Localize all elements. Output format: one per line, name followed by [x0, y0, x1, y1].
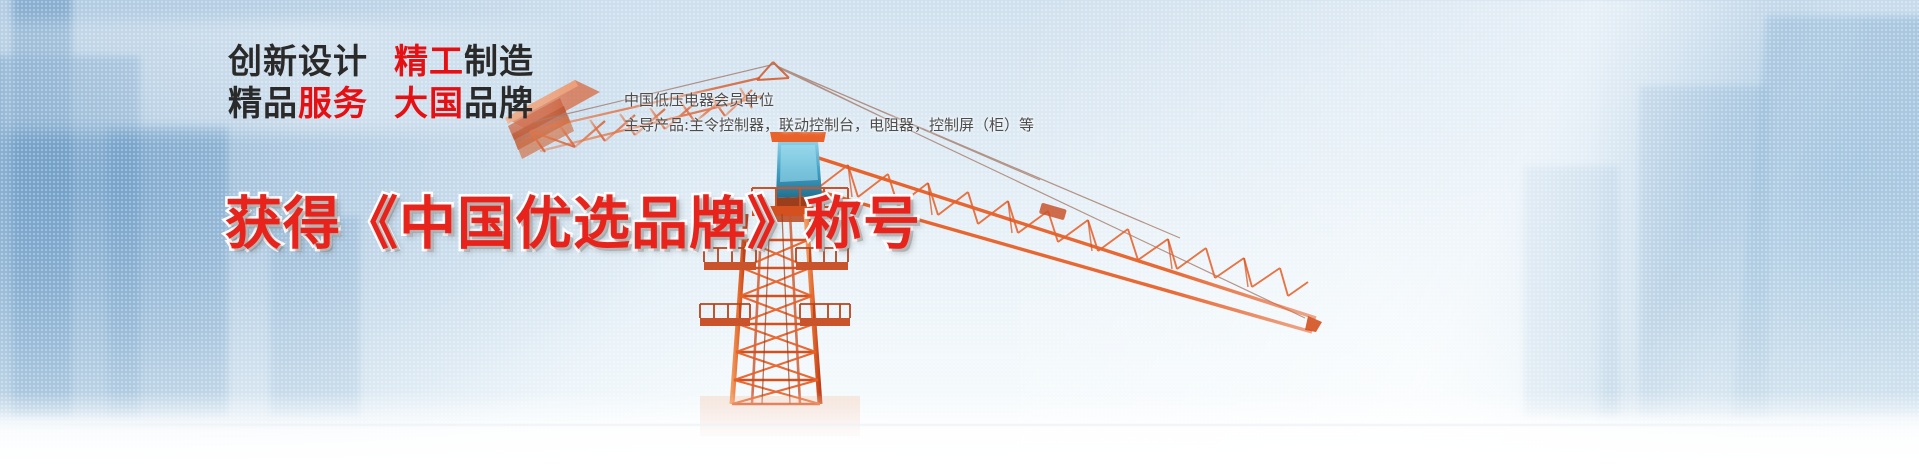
company-credentials-block: 中国低压电器会员单位 主导产品:主令控制器，联动控制台，电阻器，控制屏（柜）等: [624, 88, 1034, 138]
slogan-text-service: 服务: [298, 84, 368, 124]
ground-fade: [0, 392, 1919, 464]
slogan-text-fine-craft: 精工: [394, 42, 464, 82]
slogan-text-brand: 品牌: [464, 84, 534, 124]
headline-award-title: 获得《中国优选品牌》称号: [225, 192, 921, 256]
slogan-block: 创新设计精工制造 精品服务大国品牌: [228, 41, 534, 125]
slogan-text-quality: 精品: [228, 84, 298, 124]
products-line: 主导产品:主令控制器，联动控制台，电阻器，控制屏（柜）等: [624, 113, 1034, 138]
slogan-line-1: 创新设计精工制造: [228, 41, 534, 83]
slogan-text-innovative-design: 创新设计: [228, 42, 368, 82]
promo-banner: 创新设计精工制造 精品服务大国品牌 中国低压电器会员单位 主导产品:主令控制器，…: [0, 0, 1919, 464]
slogan-text-great-nation: 大国: [394, 84, 464, 124]
membership-line: 中国低压电器会员单位: [624, 88, 1034, 113]
slogan-line-2: 精品服务大国品牌: [228, 83, 534, 125]
slogan-text-manufacture: 制造: [464, 42, 534, 82]
